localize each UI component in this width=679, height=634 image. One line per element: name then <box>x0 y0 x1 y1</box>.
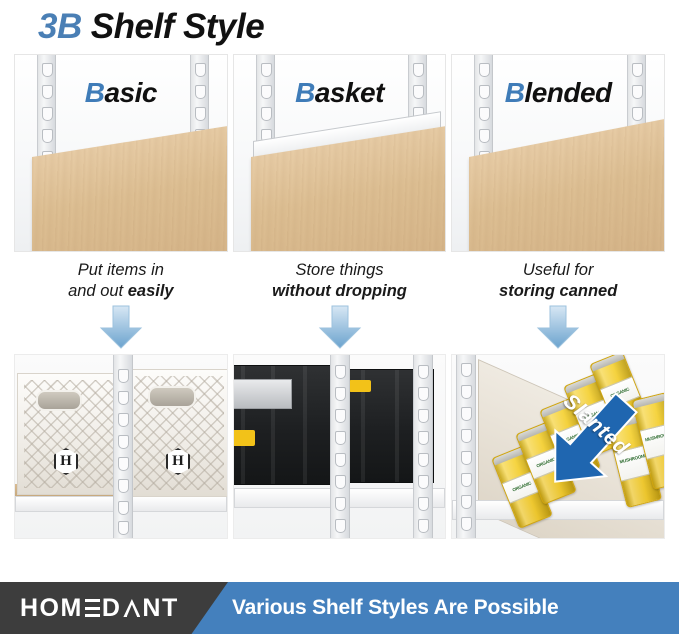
panel-label-initial: B <box>295 77 315 108</box>
caption-line-1: Store things <box>233 260 447 281</box>
panel-label-rest: asket <box>315 77 384 108</box>
caption-bold: without dropping <box>272 282 407 300</box>
caption-line-2: storing canned <box>451 281 665 302</box>
crate-photo[interactable]: H H <box>14 354 228 539</box>
panel-basic[interactable]: Basic <box>14 54 228 252</box>
brand-logo: HOM D NT <box>0 596 179 621</box>
caption-line-2: without dropping <box>233 281 447 302</box>
caption-line-1: Put items in <box>14 260 228 281</box>
arrow-row <box>0 302 679 354</box>
toolbox-latch <box>233 430 255 446</box>
caption-bold: easily <box>128 282 174 300</box>
panel-label-initial: B <box>85 77 105 108</box>
triangle-a-icon <box>123 599 140 617</box>
footer-tagline: Various Shelf Styles Are Possible <box>232 582 558 634</box>
title-prefix: 3B <box>38 7 82 47</box>
toolbox-photo[interactable] <box>233 354 447 539</box>
panel-label-rest: asic <box>104 77 157 108</box>
panel-basket[interactable]: Basket <box>233 54 447 252</box>
title-main: Shelf Style <box>91 7 264 47</box>
arrow-cell-blended <box>451 304 665 354</box>
brand-panel: HOM D NT <box>0 582 228 634</box>
caption-basic: Put items in and out easily <box>14 260 228 302</box>
panel-blended[interactable]: Blended <box>451 54 665 252</box>
product-photos: H H <box>0 354 679 539</box>
caption-line-1: Useful for <box>451 260 665 281</box>
crate-left: H <box>17 373 123 495</box>
down-arrow-icon <box>535 304 581 350</box>
footer-bar: HOM D NT Various Shelf Styles Are Possib… <box>0 582 679 634</box>
panel-label-rest: lended <box>524 77 611 108</box>
toolbox-latch <box>349 380 371 392</box>
crate-handle <box>148 386 196 408</box>
down-arrow-icon <box>317 304 363 350</box>
caption-bold: storing canned <box>499 282 617 300</box>
shelf-upright <box>113 355 133 538</box>
brand-part-1: HOM <box>20 596 83 621</box>
shelf-upright-mid <box>330 355 350 538</box>
page-title: 3B Shelf Style <box>0 0 679 54</box>
metal-tray <box>233 379 292 409</box>
shelf-upright-left <box>456 355 476 538</box>
crate-right: H <box>127 369 228 497</box>
three-bar-e-icon <box>85 599 100 617</box>
arrow-cell-basket <box>233 304 447 354</box>
crate-handle <box>36 390 82 411</box>
down-arrow-icon <box>98 304 144 350</box>
panel-label-initial: B <box>505 77 525 108</box>
brand-part-2: D <box>102 596 122 621</box>
shelf-upright-right <box>413 355 433 538</box>
panel-label-blended: Blended <box>452 77 664 109</box>
panel-label-basic: Basic <box>15 77 227 109</box>
caption-blended: Useful for storing canned <box>451 260 665 302</box>
caption-plain: and out <box>68 282 128 300</box>
cans-photo[interactable]: ORGANIC ORGANIC ORGANIC ORGANIC ORGANIC … <box>451 354 665 539</box>
caption-basket: Store things without dropping <box>233 260 447 302</box>
panel-captions: Put items in and out easily Store things… <box>0 252 679 302</box>
panel-label-basket: Basket <box>234 77 446 109</box>
brand-part-3: NT <box>142 596 178 621</box>
shelf-style-panels: Basic Basket <box>0 54 679 252</box>
caption-line-2: and out easily <box>14 281 228 302</box>
arrow-cell-basic <box>14 304 228 354</box>
